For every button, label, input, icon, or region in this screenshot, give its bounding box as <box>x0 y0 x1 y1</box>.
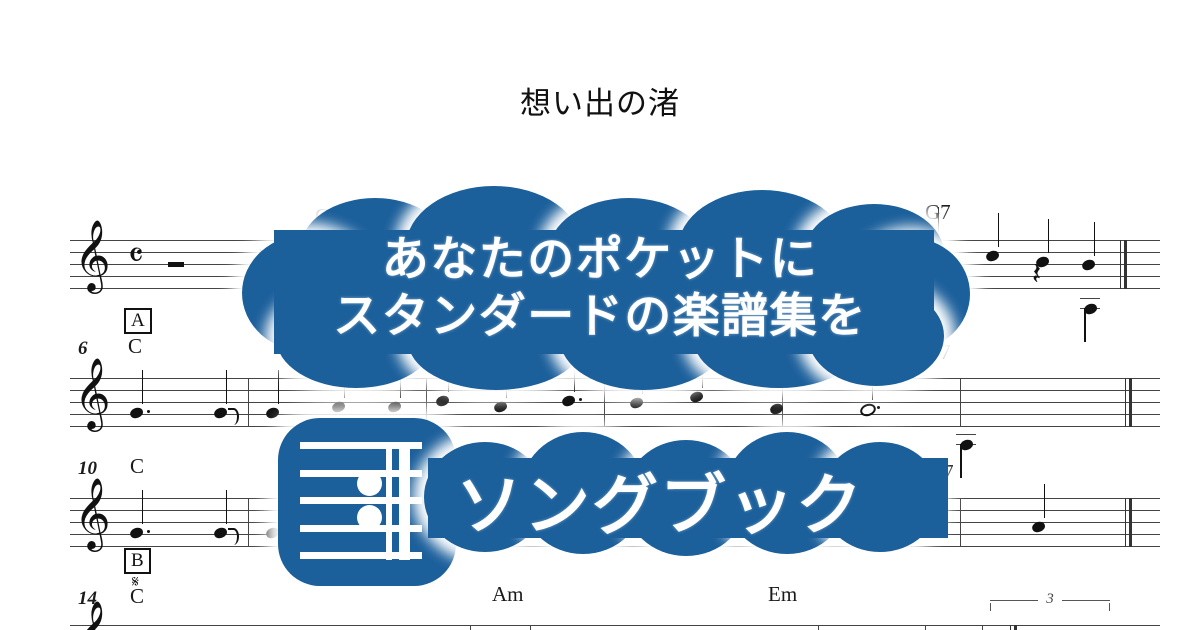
chord-symbol: C <box>315 204 329 229</box>
triplet-label: 3 <box>384 467 392 484</box>
ogp-card: 想い出の渚 𝄞 𝄴 𝄽 C Am Dm G7 3 <box>0 0 1200 630</box>
chord-symbol: Am <box>492 582 524 607</box>
triplet-bracket: 3 <box>990 600 1110 611</box>
triplet-bracket: 3 <box>328 356 448 367</box>
triplet-label: 3 <box>1046 591 1054 608</box>
time-signature-common: 𝄴 <box>128 239 144 274</box>
chord-symbol: C <box>130 584 144 609</box>
chord-symbol: Am <box>522 204 554 229</box>
treble-clef-icon: 𝄞 <box>74 362 111 424</box>
staff-lines-1 <box>70 240 1160 288</box>
treble-clef-icon: 𝄞 <box>74 482 111 544</box>
chord-symbol: G7 <box>928 460 954 485</box>
sheet-music-background: 想い出の渚 𝄞 𝄴 𝄽 C Am Dm G7 3 <box>0 0 1200 630</box>
triplet-label: 3 <box>384 347 392 364</box>
triplet-bracket: 3 <box>328 476 448 487</box>
score-title: 想い出の渚 <box>0 78 1200 123</box>
chord-symbol: G7 <box>925 340 951 365</box>
quarter-rest-icon: 𝄽 <box>1032 260 1041 290</box>
treble-clef-icon: 𝄞 <box>74 224 111 286</box>
triplet-label: 3 <box>421 213 429 230</box>
rehearsal-mark-a: A <box>124 308 152 334</box>
treble-clef-icon: 𝄞 <box>74 605 111 630</box>
triplet-bracket: 3 <box>370 222 480 233</box>
chord-symbol: Em <box>768 582 797 607</box>
chord-symbol: C <box>130 454 144 479</box>
half-rest-icon <box>168 262 184 267</box>
rehearsal-mark-b: B <box>124 548 151 574</box>
chord-symbol: C <box>128 334 142 359</box>
quarter-rest-icon: 𝄽 <box>256 244 267 280</box>
chord-symbol: Dm <box>722 204 754 229</box>
staff-lines-4 <box>70 625 1160 630</box>
